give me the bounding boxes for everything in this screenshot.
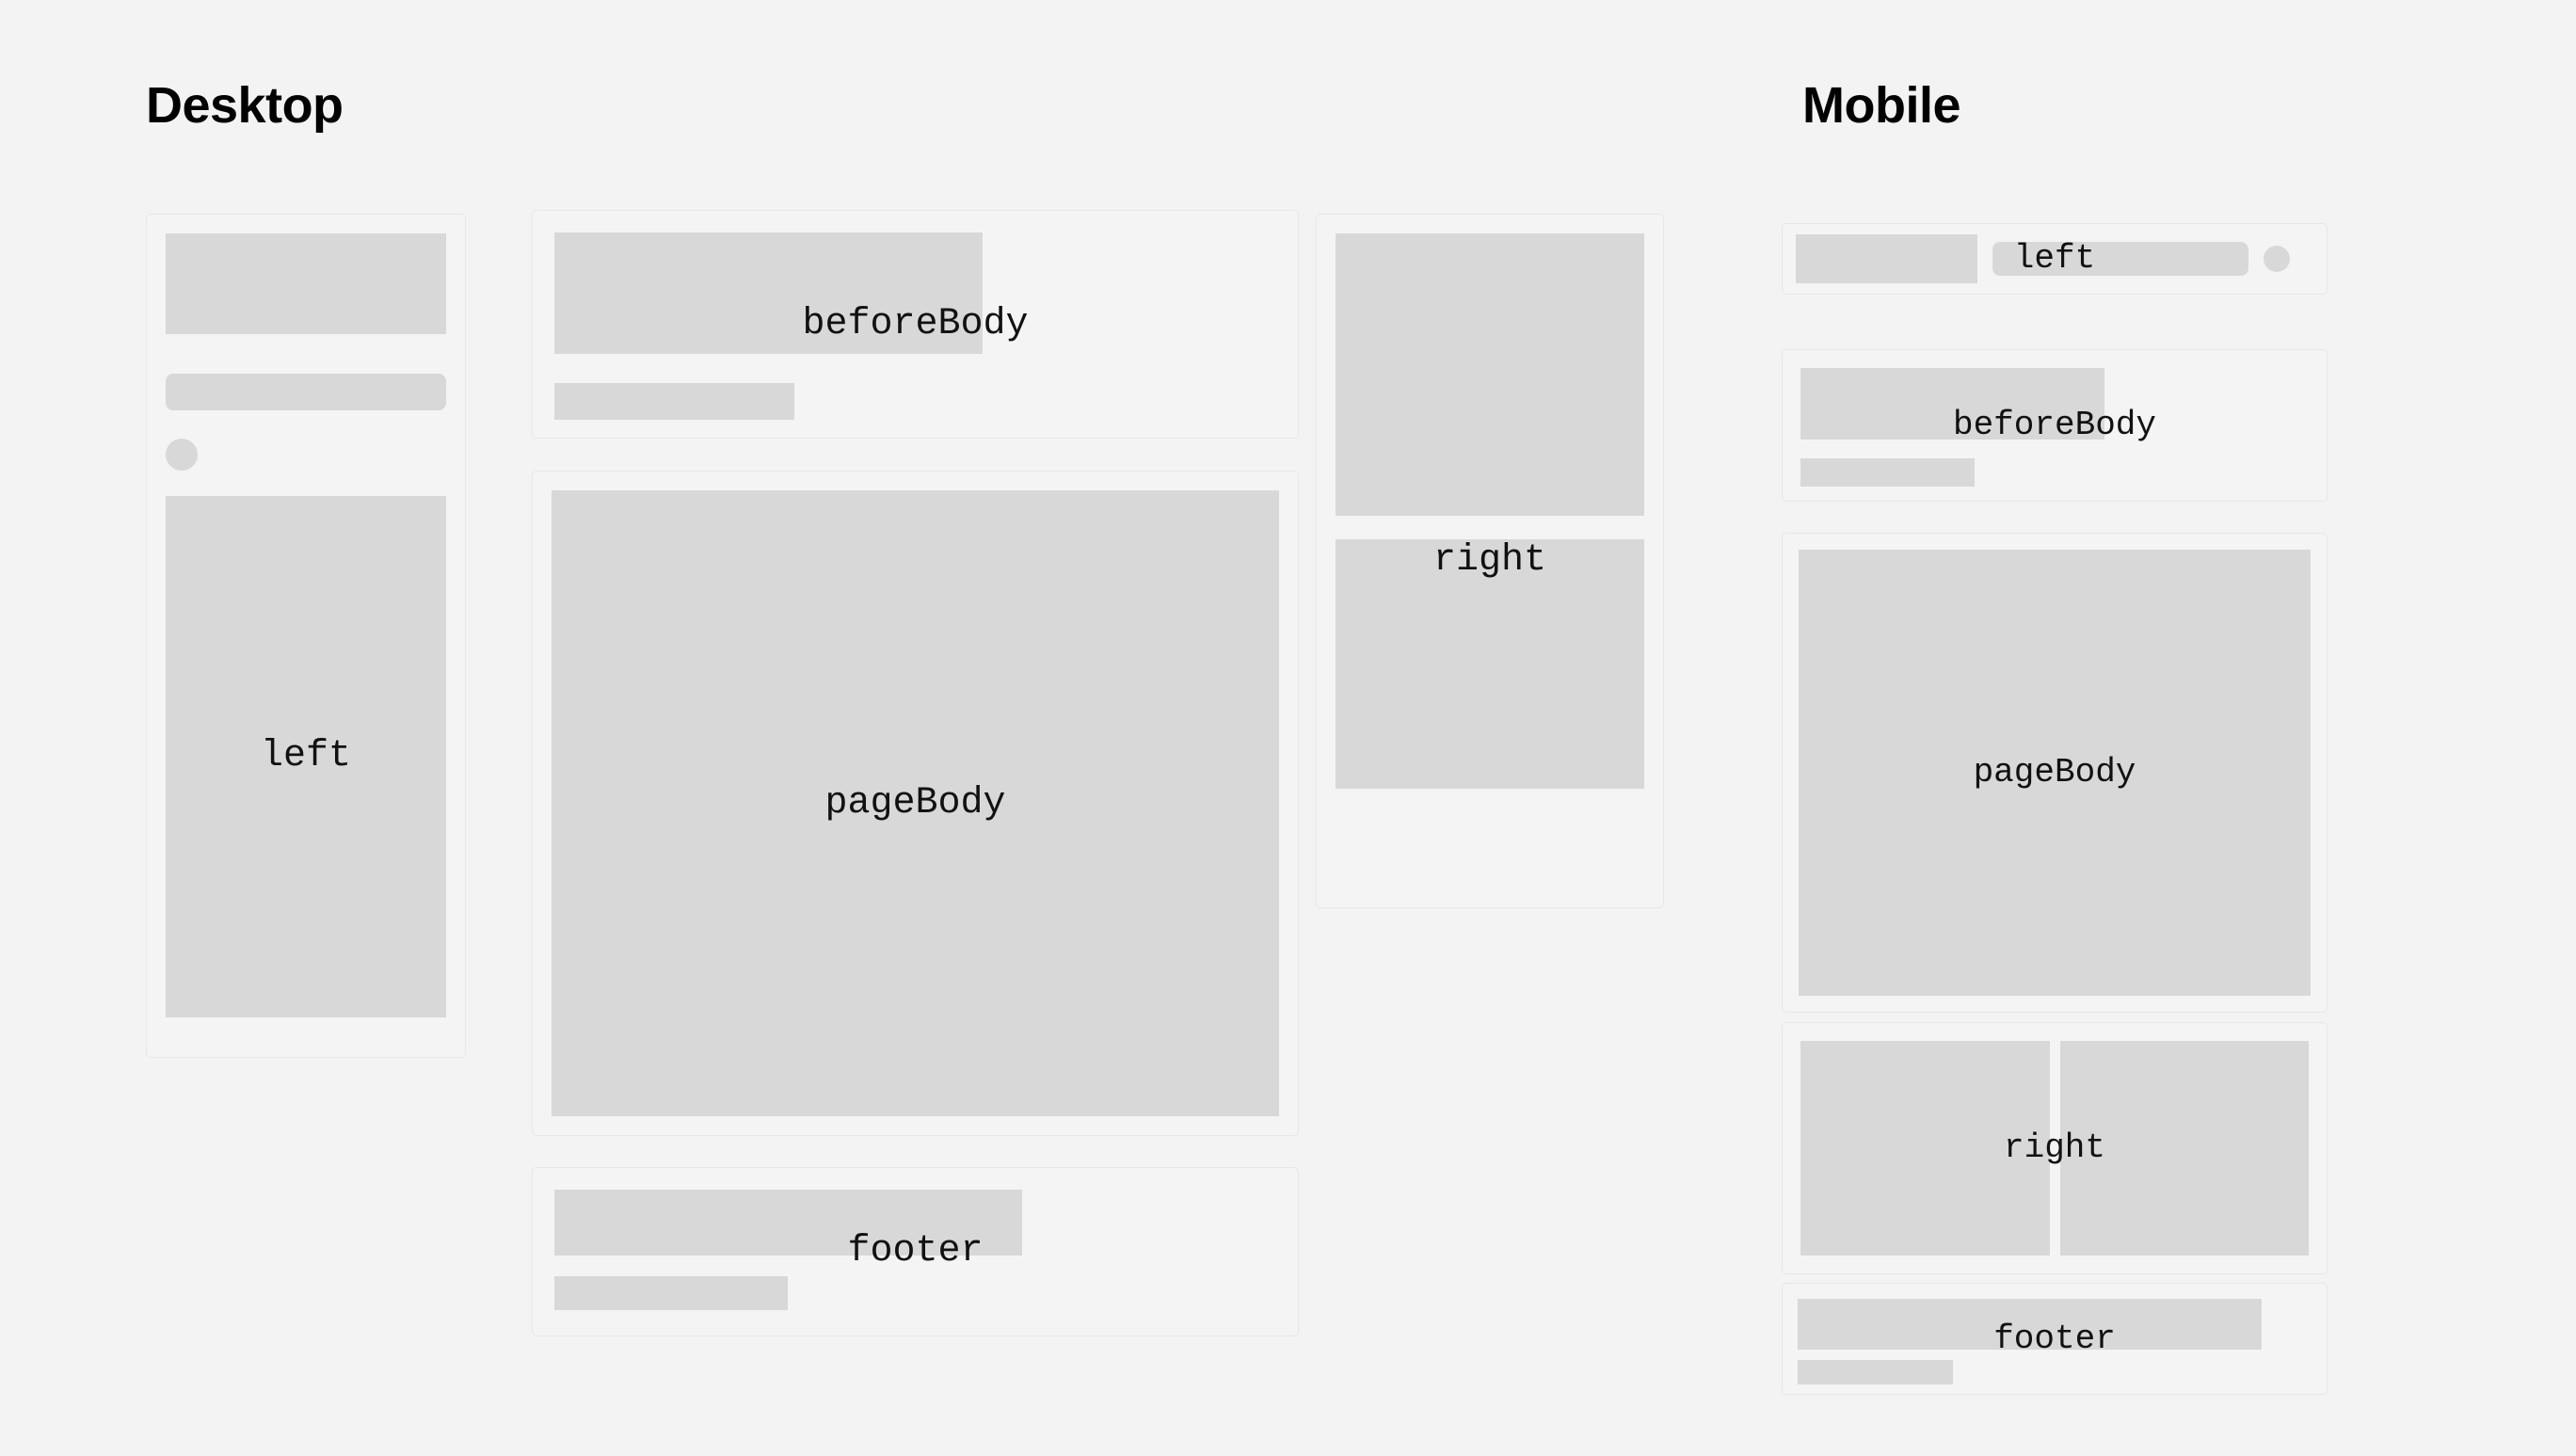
skeleton-hero-block: [554, 232, 983, 354]
layout-preview-stage: Desktop left beforeBody pageBody right f…: [0, 0, 2576, 1456]
skeleton-hero-block: [1800, 368, 2104, 440]
skeleton-hero-block-top: [1336, 233, 1644, 516]
desktop-left-panel[interactable]: left: [146, 214, 466, 1058]
skeleton-hero-block: [1799, 550, 2311, 996]
desktop-right-panel[interactable]: right: [1316, 214, 1664, 908]
region-label-left: left: [166, 738, 446, 776]
skeleton-hero-block: [1796, 234, 1977, 283]
skeleton-hero-block: [554, 1190, 1022, 1256]
mobile-column-heading: Mobile: [1802, 80, 1960, 131]
skeleton-line-bar: [554, 1276, 788, 1310]
desktop-column-heading: Desktop: [146, 80, 344, 131]
skeleton-line-bar: [166, 374, 446, 410]
skeleton-avatar-dot: [2264, 246, 2290, 272]
desktop-page-body-panel[interactable]: pageBody: [532, 471, 1299, 1136]
skeleton-column-block-left: [1800, 1041, 2050, 1256]
mobile-right-panel[interactable]: right: [1782, 1022, 2328, 1274]
skeleton-avatar-dot: [166, 439, 198, 471]
skeleton-hero-block: [552, 490, 1279, 1116]
skeleton-line-bar: [554, 383, 794, 420]
mobile-footer-panel[interactable]: footer: [1782, 1283, 2328, 1395]
skeleton-hero-block: [166, 233, 446, 334]
skeleton-line-bar: [1798, 1360, 1953, 1384]
desktop-before-body-panel[interactable]: beforeBody: [532, 210, 1299, 439]
skeleton-tall-panel: left: [166, 496, 446, 1017]
skeleton-column-block-right: [2060, 1041, 2310, 1256]
skeleton-line-bar: [1800, 458, 1975, 487]
mobile-before-body-panel[interactable]: beforeBody: [1782, 349, 2328, 502]
skeleton-hero-block: [1798, 1299, 2262, 1350]
skeleton-line-bar: [1992, 242, 2248, 276]
desktop-footer-panel[interactable]: footer: [532, 1167, 1299, 1336]
mobile-page-body-panel[interactable]: pageBody: [1782, 533, 2328, 1013]
mobile-left-panel[interactable]: left: [1782, 223, 2328, 295]
skeleton-hero-block-bottom: [1336, 539, 1644, 789]
